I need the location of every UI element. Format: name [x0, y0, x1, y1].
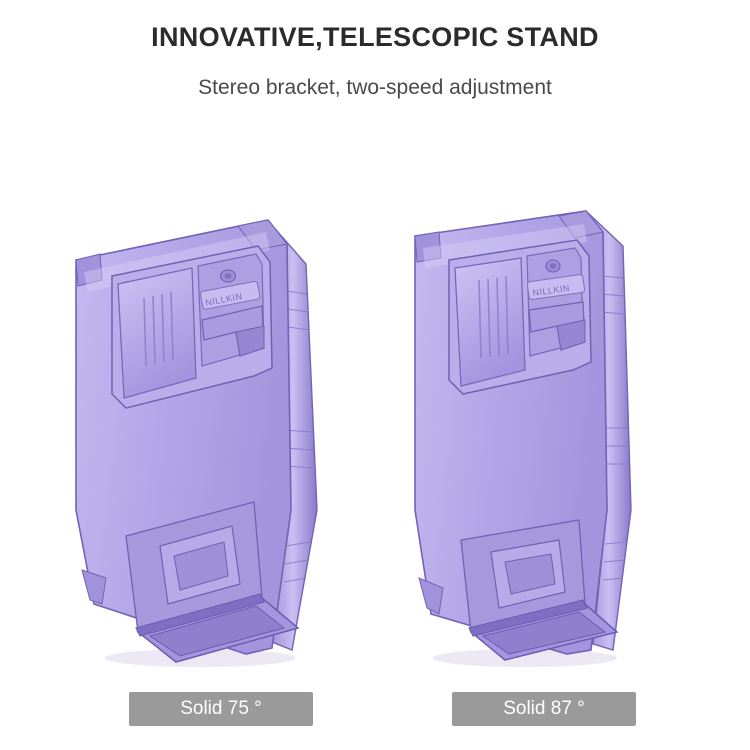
product-image-75: NILLKIN — [40, 180, 380, 680]
page-title: INNOVATIVE,TELESCOPIC STAND — [0, 22, 750, 53]
caption-75: Solid 75 ° — [129, 692, 313, 726]
product-feature-image: INNOVATIVE,TELESCOPIC STAND Stereo brack… — [0, 0, 750, 750]
caption-87: Solid 87 ° — [452, 692, 636, 726]
page-subtitle: Stereo bracket, two-speed adjustment — [0, 76, 750, 100]
camera-slider-cover — [455, 258, 525, 386]
product-image-87: NILLKIN — [375, 180, 715, 680]
camera-lens-inner — [550, 263, 557, 269]
phone-case-illustration-87: NILLKIN — [375, 180, 715, 680]
camera-slider-cover — [118, 268, 196, 398]
camera-lens-inner — [225, 273, 232, 279]
phone-case-illustration-75: NILLKIN — [40, 180, 380, 680]
